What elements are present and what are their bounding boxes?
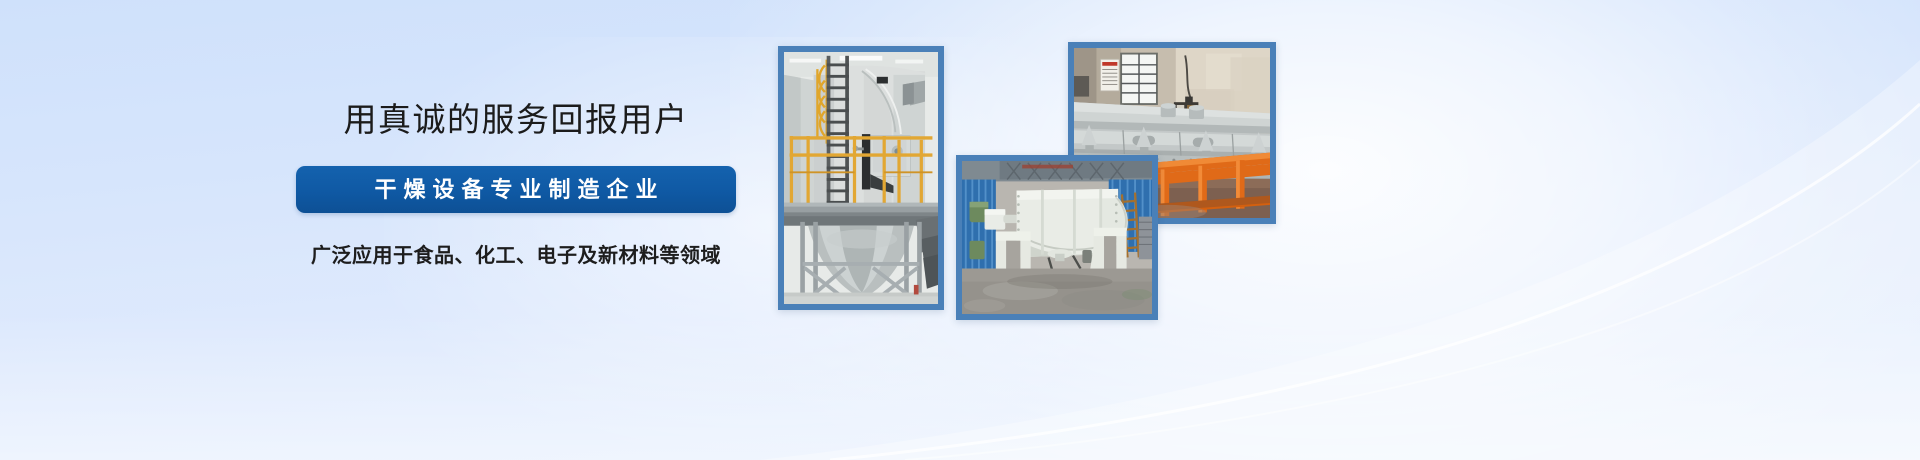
promo-banner: 用真诚的服务回报用户 干燥设备专业制造企业 广泛应用于食品、化工、电子及新材料等… bbox=[0, 0, 1920, 460]
photo-spray-dryer[interactable] bbox=[778, 46, 944, 310]
banner-tagline: 广泛应用于食品、化工、电子及新材料等领域 bbox=[296, 239, 736, 268]
background-glow-bottom bbox=[0, 313, 1920, 460]
banner-text-block: 用真诚的服务回报用户 干燥设备专业制造企业 广泛应用于食品、化工、电子及新材料等… bbox=[296, 100, 736, 268]
banner-ribbon-label: 干燥设备专业制造企业 bbox=[296, 166, 736, 213]
photo-ribbon-mixer[interactable] bbox=[956, 155, 1158, 320]
photo-ribbon-mixer-image bbox=[962, 161, 1152, 314]
photo-spray-dryer-image bbox=[784, 52, 938, 304]
banner-headline: 用真诚的服务回报用户 bbox=[296, 100, 736, 140]
